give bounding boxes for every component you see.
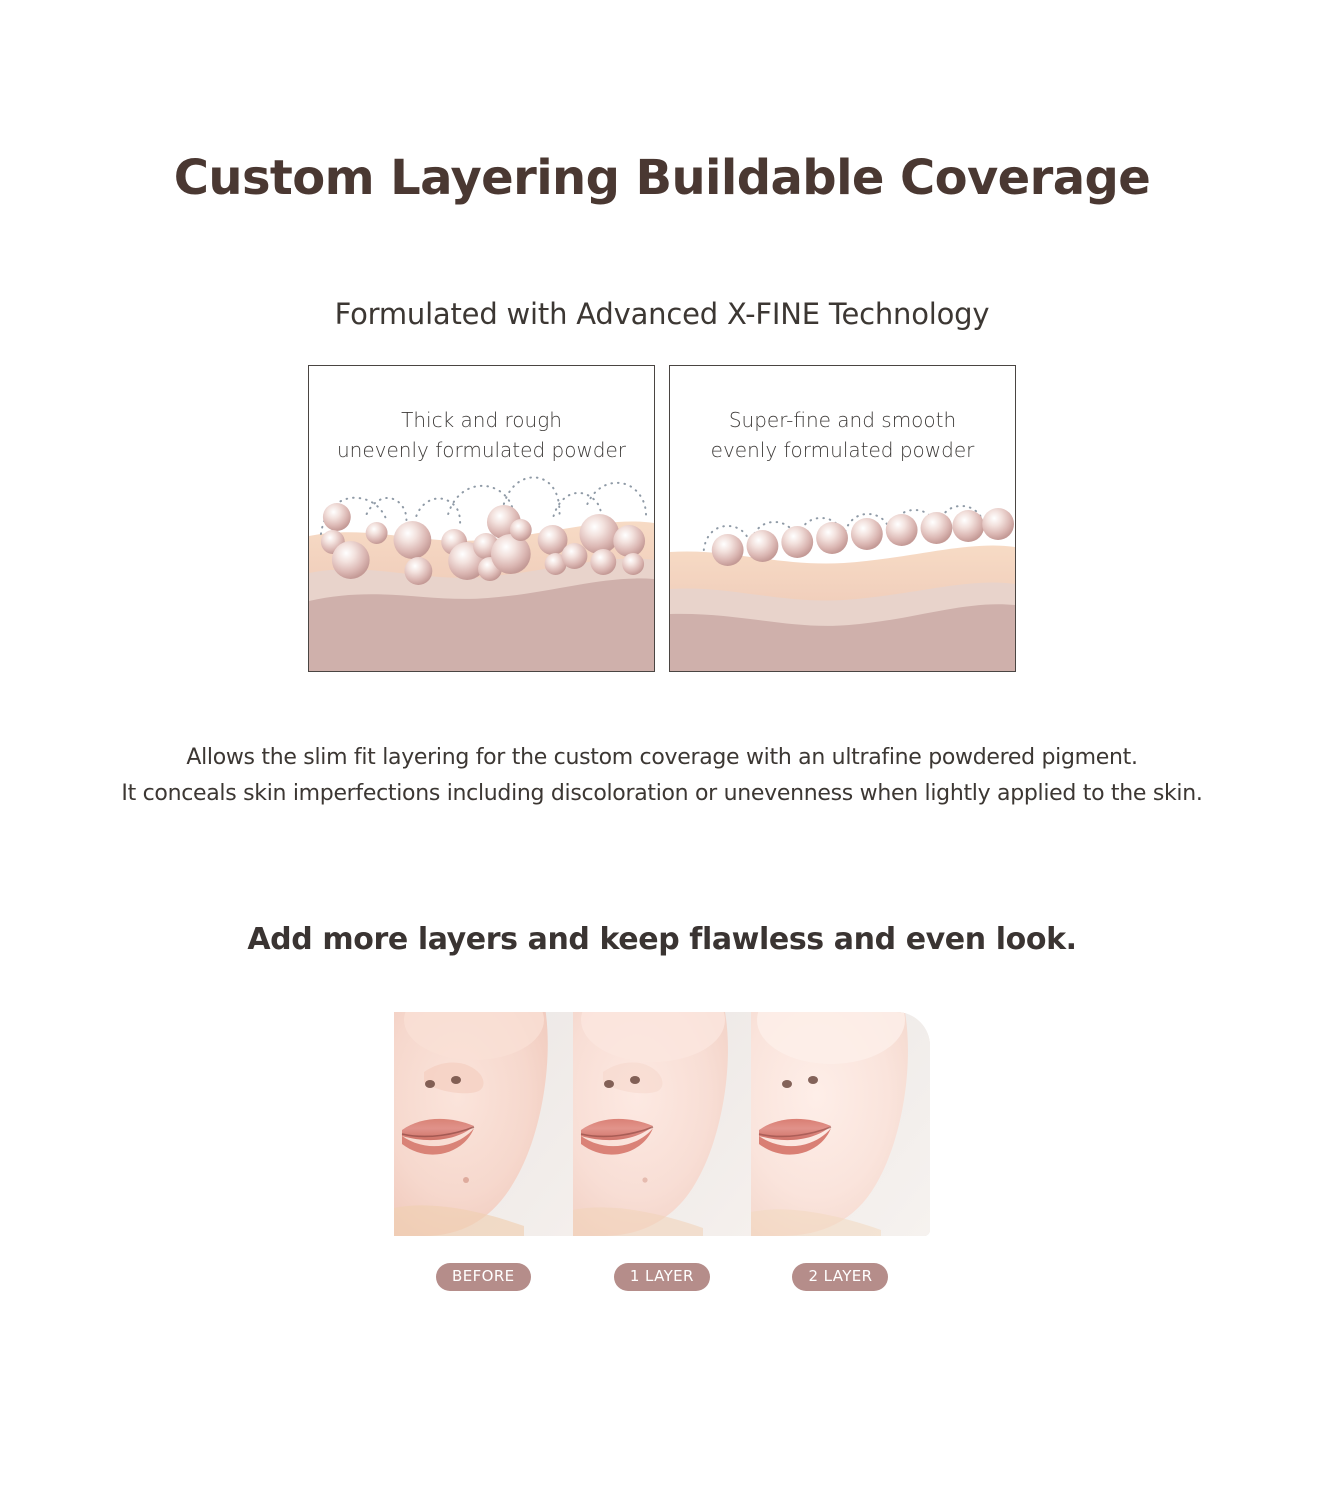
badge-two-layer: 2 LAYER (792, 1263, 888, 1291)
badge-slot-before: BEFORE (394, 1263, 573, 1291)
face-photo-before (394, 1012, 573, 1236)
panel-even-powder: Super-fine and smooth evenly formulated … (669, 365, 1016, 672)
photo-before (394, 1012, 573, 1236)
layering-photo-strip (394, 1012, 930, 1236)
badge-one-layer: 1 LAYER (614, 1263, 710, 1291)
photo-one-layer (573, 1012, 752, 1236)
page-title: Custom Layering Buildable Coverage (0, 150, 1324, 206)
layering-heading: Add more layers and keep flawless and ev… (0, 922, 1324, 957)
panel-uneven-caption: Thick and rough unevenly formulated powd… (309, 405, 654, 465)
panel-uneven-powder: Thick and rough unevenly formulated powd… (308, 365, 655, 672)
layering-badge-row: BEFORE 1 LAYER 2 LAYER (394, 1263, 930, 1291)
page-subtitle: Formulated with Advanced X-FINE Technolo… (0, 297, 1324, 331)
photo-two-layer (751, 1012, 930, 1236)
comparison-panels: Thick and rough unevenly formulated powd… (308, 365, 1016, 672)
face-photo-one-layer (573, 1012, 752, 1236)
lead-copy: Allows the slim fit layering for the cus… (0, 740, 1324, 812)
badge-slot-two-layer: 2 LAYER (751, 1263, 930, 1291)
face-photo-two-layer (751, 1012, 930, 1236)
badge-before: BEFORE (436, 1263, 531, 1291)
badge-slot-one-layer: 1 LAYER (573, 1263, 752, 1291)
panel-even-caption: Super-fine and smooth evenly formulated … (670, 405, 1015, 465)
